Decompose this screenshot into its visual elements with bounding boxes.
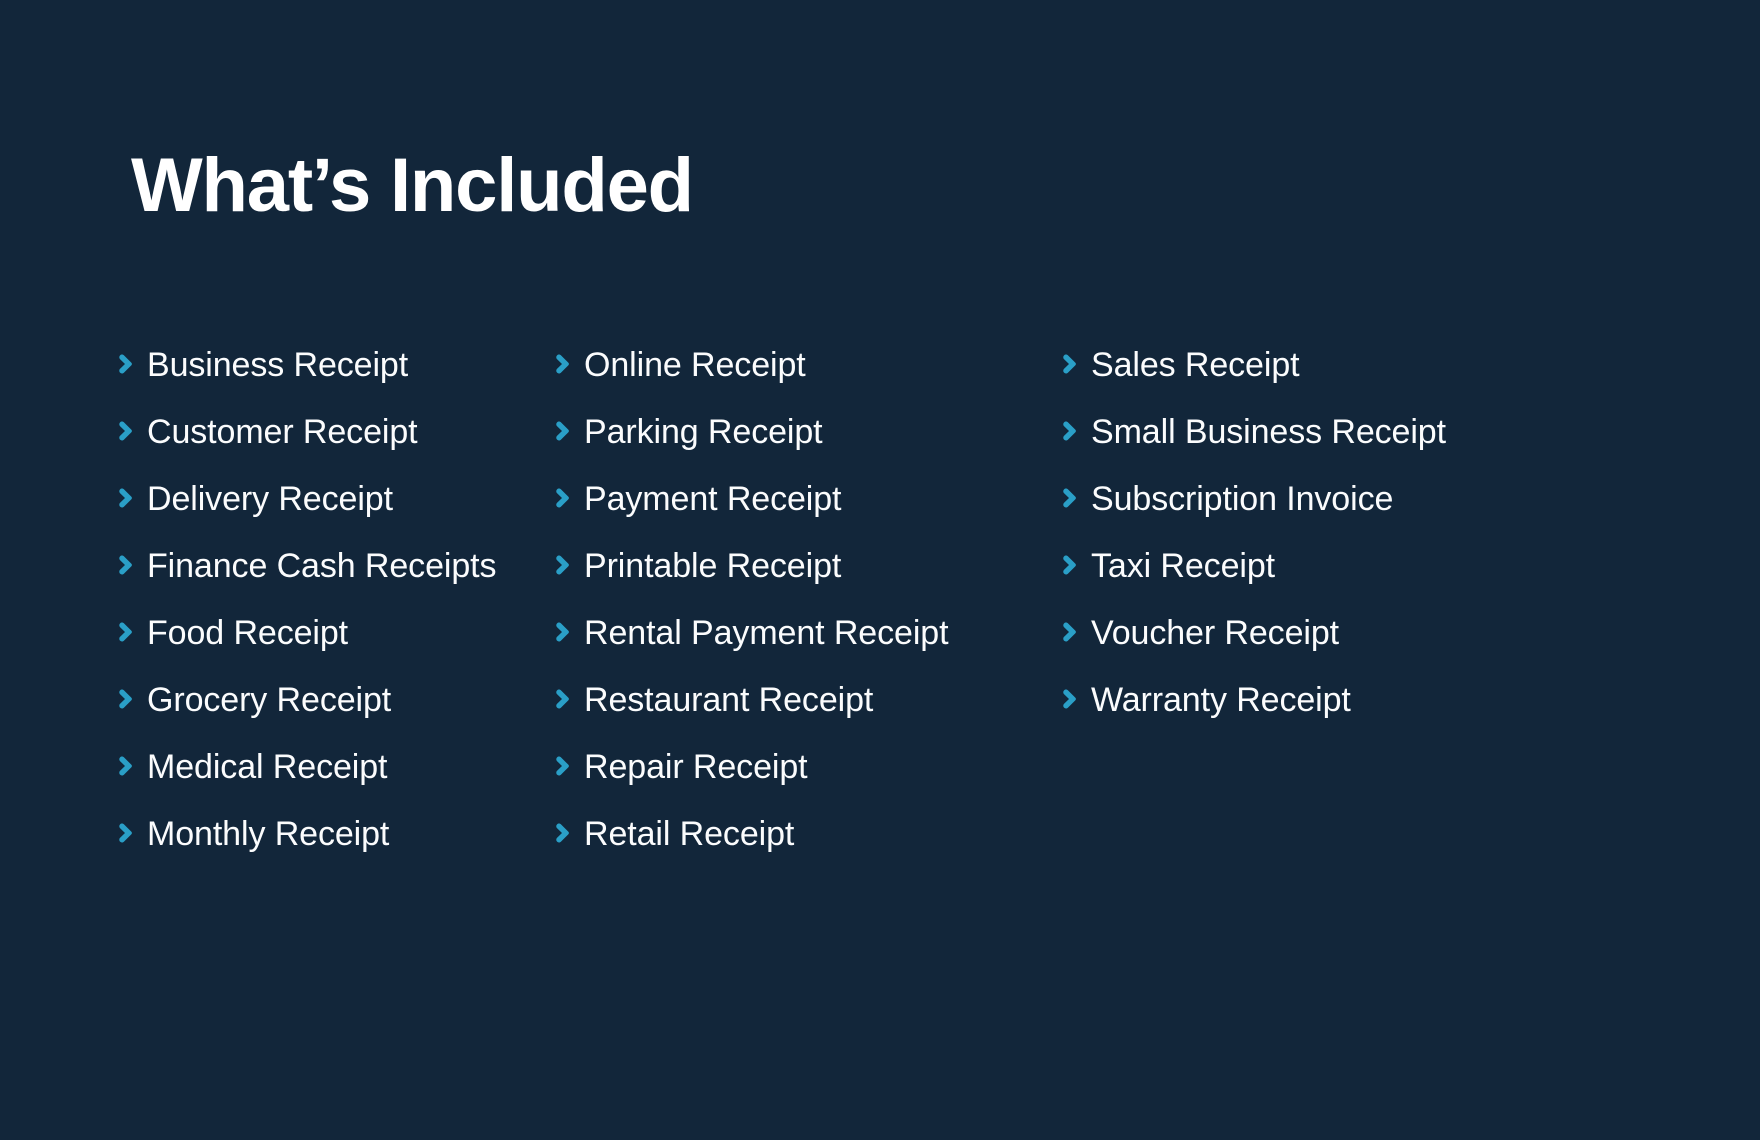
- list-item: Repair Receipt: [553, 750, 1010, 817]
- list-item-label: Printable Receipt: [584, 549, 841, 583]
- list-item-label: Monthly Receipt: [147, 817, 389, 851]
- chevron-right-icon: [553, 416, 584, 442]
- list-item-label: Taxi Receipt: [1091, 549, 1275, 583]
- list-item-label: Customer Receipt: [147, 415, 418, 449]
- list-item-label: Retail Receipt: [584, 817, 794, 851]
- chevron-right-icon: [1060, 617, 1091, 643]
- chevron-right-icon: [116, 483, 147, 509]
- list-item: Food Receipt: [116, 616, 500, 683]
- list-item: Restaurant Receipt: [553, 683, 1010, 750]
- list-item-label: Sales Receipt: [1091, 348, 1299, 382]
- list-item: Retail Receipt: [553, 817, 1010, 884]
- chevron-right-icon: [1060, 684, 1091, 710]
- list-item-label: Finance Cash Receipts: [147, 549, 496, 583]
- slide-canvas: What’s Included Business ReceiptCustomer…: [0, 0, 1760, 1140]
- list-item: Subscription Invoice: [1060, 482, 1650, 549]
- chevron-right-icon: [116, 684, 147, 710]
- chevron-right-icon: [553, 818, 584, 844]
- list-item-label: Subscription Invoice: [1091, 482, 1393, 516]
- list-item: Customer Receipt: [116, 415, 500, 482]
- list-item: Rental Payment Receipt: [553, 616, 1010, 683]
- list-item-label: Online Receipt: [584, 348, 806, 382]
- chevron-right-icon: [116, 550, 147, 576]
- items-column-1: Business ReceiptCustomer ReceiptDelivery…: [0, 348, 500, 884]
- list-item-label: Grocery Receipt: [147, 683, 391, 717]
- list-item: Online Receipt: [553, 348, 1010, 415]
- chevron-right-icon: [1060, 349, 1091, 375]
- chevron-right-icon: [116, 818, 147, 844]
- list-item-label: Restaurant Receipt: [584, 683, 873, 717]
- list-item-label: Food Receipt: [147, 616, 348, 650]
- chevron-right-icon: [116, 751, 147, 777]
- list-item: Warranty Receipt: [1060, 683, 1650, 750]
- chevron-right-icon: [116, 349, 147, 375]
- page-title: What’s Included: [131, 148, 693, 224]
- chevron-right-icon: [553, 617, 584, 643]
- items-column-2: Online ReceiptParking ReceiptPayment Rec…: [500, 348, 1010, 884]
- list-item: Small Business Receipt: [1060, 415, 1650, 482]
- chevron-right-icon: [1060, 483, 1091, 509]
- list-item: Delivery Receipt: [116, 482, 500, 549]
- list-item-label: Warranty Receipt: [1091, 683, 1351, 717]
- list-item-label: Payment Receipt: [584, 482, 841, 516]
- chevron-right-icon: [116, 416, 147, 442]
- list-item: Printable Receipt: [553, 549, 1010, 616]
- chevron-right-icon: [553, 684, 584, 710]
- list-item: Grocery Receipt: [116, 683, 500, 750]
- list-item-label: Small Business Receipt: [1091, 415, 1446, 449]
- chevron-right-icon: [553, 751, 584, 777]
- list-item-label: Business Receipt: [147, 348, 408, 382]
- list-item: Business Receipt: [116, 348, 500, 415]
- list-item: Medical Receipt: [116, 750, 500, 817]
- list-item: Monthly Receipt: [116, 817, 500, 884]
- list-item-label: Parking Receipt: [584, 415, 823, 449]
- chevron-right-icon: [1060, 416, 1091, 442]
- list-item: Sales Receipt: [1060, 348, 1650, 415]
- list-item-label: Delivery Receipt: [147, 482, 393, 516]
- list-item-label: Repair Receipt: [584, 750, 808, 784]
- list-item-label: Medical Receipt: [147, 750, 387, 784]
- list-item: Voucher Receipt: [1060, 616, 1650, 683]
- list-item: Parking Receipt: [553, 415, 1010, 482]
- chevron-right-icon: [116, 617, 147, 643]
- chevron-right-icon: [553, 550, 584, 576]
- list-item: Taxi Receipt: [1060, 549, 1650, 616]
- list-item: Finance Cash Receipts: [116, 549, 500, 616]
- list-item-label: Rental Payment Receipt: [584, 616, 948, 650]
- chevron-right-icon: [1060, 550, 1091, 576]
- chevron-right-icon: [553, 483, 584, 509]
- list-item: Payment Receipt: [553, 482, 1010, 549]
- items-column-3: Sales ReceiptSmall Business ReceiptSubsc…: [1010, 348, 1650, 750]
- chevron-right-icon: [553, 349, 584, 375]
- list-item-label: Voucher Receipt: [1091, 616, 1339, 650]
- included-items-columns: Business ReceiptCustomer ReceiptDelivery…: [0, 348, 1760, 884]
